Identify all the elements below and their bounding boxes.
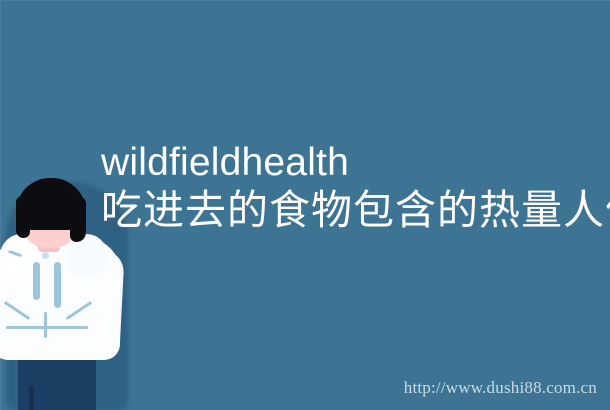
- headline-chinese: 吃进去的食物包含的热量人体全部: [101, 186, 610, 234]
- hoodie-center-seam: [44, 312, 47, 338]
- hoodie-drawstring-right: [54, 262, 61, 308]
- headline-block: wildfieldhealth 吃进去的食物包含的热量人体全部: [101, 140, 610, 234]
- headline-english: wildfieldhealth: [101, 140, 610, 186]
- promo-banner: wildfieldhealth 吃进去的食物包含的热量人体全部 http://w…: [0, 0, 610, 410]
- pocket-seam-horizontal: [6, 326, 88, 329]
- site-url-watermark: http://www.dushi88.com.cn: [404, 378, 597, 398]
- pants-leg-split: [29, 386, 34, 410]
- hoodie-drawstring-left: [33, 262, 40, 300]
- hoodie-collar-eyelet: [42, 252, 49, 259]
